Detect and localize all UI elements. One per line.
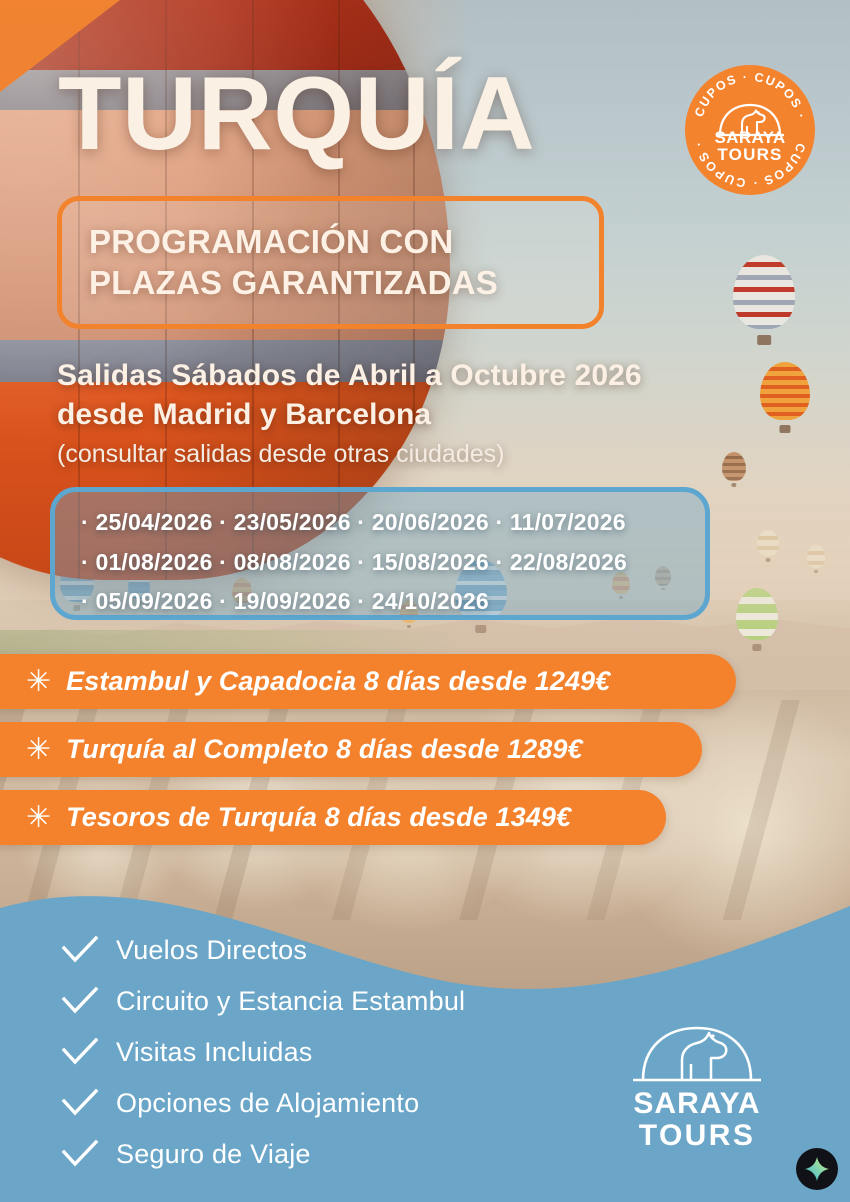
includes-list: Vuelos Directos Circuito y Estancia Esta… xyxy=(60,933,465,1171)
departures-block: Salidas Sábados de Abril a Octubre 2026 … xyxy=(57,356,797,472)
guarantee-line2: PLAZAS GARANTIZADAS xyxy=(89,263,498,303)
departures-line1: Salidas Sábados de Abril a Octubre 2026 xyxy=(57,356,797,395)
dates-box: · 25/04/2026 · 23/05/2026 · 20/06/2026 ·… xyxy=(50,487,710,620)
check-icon xyxy=(60,984,100,1018)
guarantee-box: PROGRAMACIÓN CON PLAZAS GARANTIZADAS xyxy=(57,196,604,329)
include-label: Seguro de Viaje xyxy=(116,1139,311,1170)
badge-brand-line2: TOURS xyxy=(685,146,815,163)
offer-label: Turquía al Completo 8 días desde 1289€ xyxy=(66,734,582,765)
camel-arch-icon xyxy=(627,1024,767,1084)
departures-note: (consultar salidas desde otras ciudades) xyxy=(57,438,797,472)
ai-sparkle-icon xyxy=(804,1156,830,1182)
dates-row: · 25/04/2026 · 23/05/2026 · 20/06/2026 ·… xyxy=(81,503,705,543)
poster-title: TURQUÍA xyxy=(58,62,535,166)
offer-label: Tesoros de Turquía 8 días desde 1349€ xyxy=(66,802,571,833)
guarantee-line1: PROGRAMACIÓN CON xyxy=(89,222,498,262)
check-icon xyxy=(60,1035,100,1069)
include-label: Circuito y Estancia Estambul xyxy=(116,986,465,1017)
dates-row: · 05/09/2026 · 19/09/2026 · 24/10/2026 xyxy=(81,582,705,622)
list-item: Opciones de Alojamiento xyxy=(60,1086,465,1120)
offer-label: Estambul y Capadocia 8 días desde 1249€ xyxy=(66,666,610,697)
badge-brand-line1: SARAYA xyxy=(685,129,815,146)
badge-brand: SARAYA TOURS xyxy=(685,129,815,164)
footer-logo-line2: TOURS xyxy=(612,1120,782,1152)
list-item: Seguro de Viaje xyxy=(60,1137,465,1171)
offer-bar[interactable]: ✳ Tesoros de Turquía 8 días desde 1349€ xyxy=(0,790,666,845)
departures-line2: desde Madrid y Barcelona xyxy=(57,395,797,434)
check-icon xyxy=(60,933,100,967)
check-icon xyxy=(60,1086,100,1120)
check-icon xyxy=(60,1137,100,1171)
offer-bar[interactable]: ✳ Turquía al Completo 8 días desde 1289€ xyxy=(0,722,702,777)
footer-logo-line1: SARAYA xyxy=(612,1088,782,1120)
include-label: Vuelos Directos xyxy=(116,935,307,966)
list-item: Vuelos Directos xyxy=(60,933,465,967)
list-item: Visitas Incluidas xyxy=(60,1035,465,1069)
cupos-badge: CUPOS · CUPOS · CUPOS · CUPOS · CUPOS · … xyxy=(685,65,815,195)
ai-watermark xyxy=(796,1148,838,1190)
travel-poster: TURQUÍA CUPOS · CUPOS · CUPOS · CUPOS · … xyxy=(0,0,850,1202)
dates-row: · 01/08/2026 · 08/08/2026 · 15/08/2026 ·… xyxy=(81,543,705,583)
star-bullet-icon: ✳ xyxy=(26,735,51,765)
list-item: Circuito y Estancia Estambul xyxy=(60,984,465,1018)
star-bullet-icon: ✳ xyxy=(26,667,51,697)
include-label: Opciones de Alojamiento xyxy=(116,1088,419,1119)
include-label: Visitas Incluidas xyxy=(116,1037,313,1068)
offer-bar[interactable]: ✳ Estambul y Capadocia 8 días desde 1249… xyxy=(0,654,736,709)
star-bullet-icon: ✳ xyxy=(26,803,51,833)
footer-logo: SARAYA TOURS xyxy=(612,1024,782,1152)
